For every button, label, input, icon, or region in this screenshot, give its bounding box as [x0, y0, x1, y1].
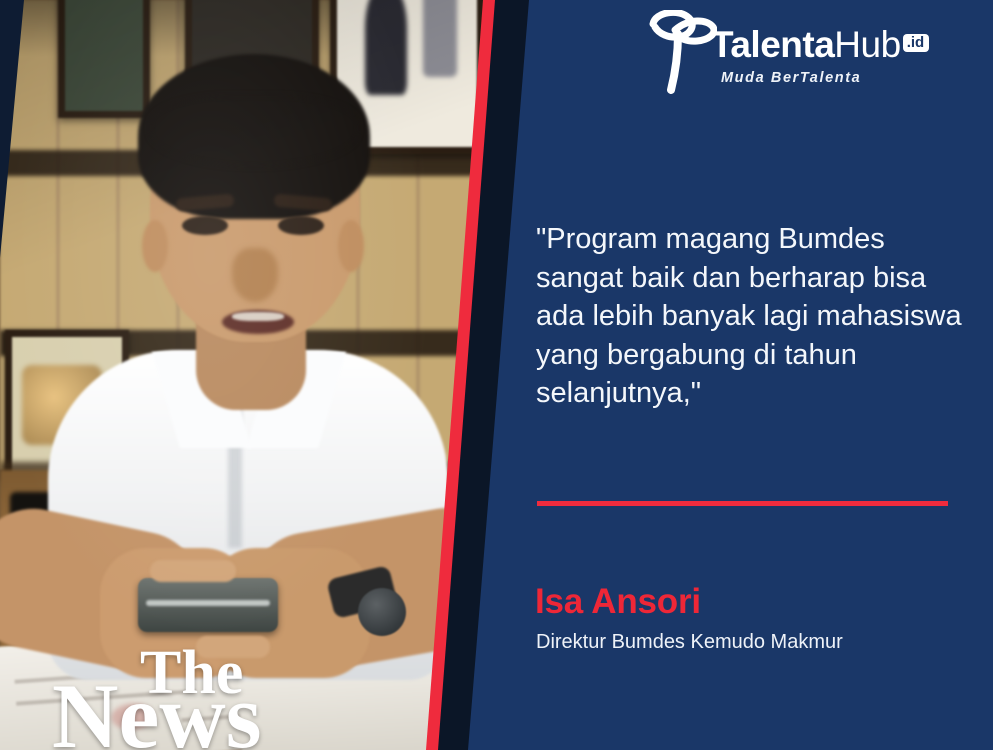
hair-fringe — [150, 96, 358, 166]
talentahub-logo[interactable]: TalentaHub.id Muda BerTalenta — [645, 8, 935, 100]
quote-card: TalentaHub.id Muda BerTalenta "Program m… — [0, 0, 993, 750]
talenta-ribbon-icon — [645, 10, 717, 94]
ear — [338, 220, 364, 272]
speaker-role: Direktur Bumdes Kemudo Makmur — [536, 631, 843, 654]
wristwatch-face — [358, 588, 406, 636]
finger — [196, 636, 270, 658]
logo-tagline: Muda BerTalenta — [721, 70, 861, 86]
accent-divider — [537, 501, 948, 506]
phone-glare — [146, 600, 270, 606]
speaker-name: Isa Ansori — [535, 582, 701, 622]
logo-domain-badge: .id — [903, 34, 930, 52]
quote-text: "Program magang Bumdes sangat baik dan b… — [536, 220, 968, 413]
portrait-photo — [0, 0, 500, 750]
nose — [232, 248, 278, 302]
content-panel: TalentaHub.id Muda BerTalenta "Program m… — [500, 0, 993, 750]
teeth — [232, 312, 284, 321]
finger — [150, 560, 236, 582]
paper-stamp — [111, 702, 155, 731]
eye — [182, 216, 228, 235]
frame-figure — [423, 0, 457, 77]
wall-frame — [58, 0, 150, 118]
frame-figure — [365, 0, 407, 95]
logo-word-bold: Talenta — [711, 24, 834, 65]
photo-content — [0, 0, 500, 750]
paper-line — [16, 689, 196, 706]
logo-word-light: Hub — [834, 24, 900, 65]
ear — [142, 220, 168, 272]
logo-wordmark: TalentaHub.id — [711, 26, 929, 63]
eye — [278, 216, 324, 235]
